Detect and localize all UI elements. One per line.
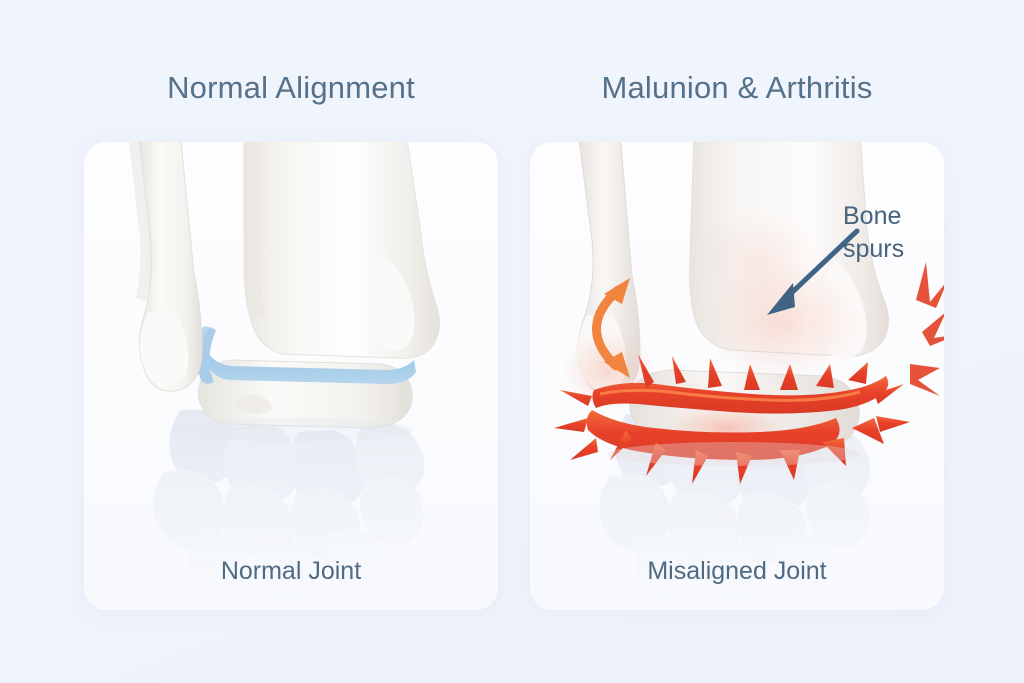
pain-burst-icon <box>910 262 944 396</box>
illustration-normal-ankle <box>84 142 498 610</box>
bone-spurs-label: Bone spurs <box>843 200 904 266</box>
panel-normal-alignment: Normal Joint <box>84 142 498 610</box>
panel-caption-normal: Normal Joint <box>84 557 498 586</box>
panel-title-malunion: Malunion & Arthritis <box>530 70 944 106</box>
panel-title-normal: Normal Alignment <box>84 70 498 106</box>
panel-caption-malunion: Misaligned Joint <box>530 557 944 586</box>
figure-canvas: Normal Alignment <box>0 0 1024 683</box>
